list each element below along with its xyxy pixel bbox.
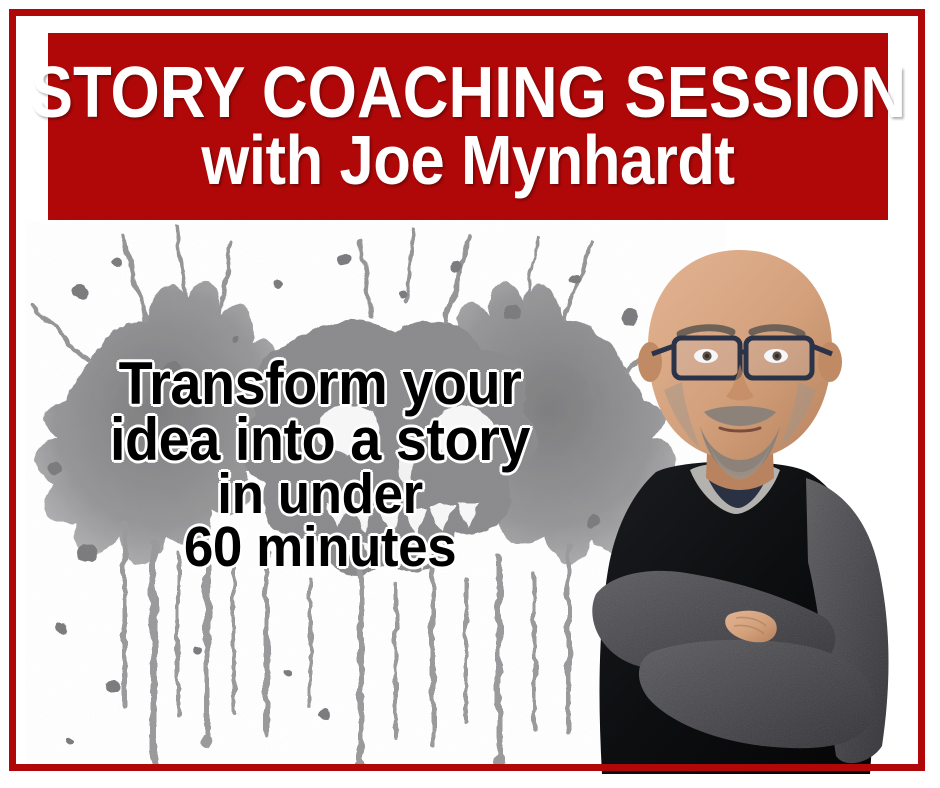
- headline-line-2: idea into a story: [78, 412, 562, 468]
- headline-line-1: Transform your: [78, 356, 562, 412]
- title-banner: STORY COACHING SESSION with Joe Mynhardt: [48, 33, 888, 220]
- banner-title-line-2: with Joe Mynhardt: [201, 128, 734, 192]
- left-ear: [638, 342, 662, 382]
- headline-line-4: 60 minutes: [78, 521, 562, 574]
- promotional-poster: STORY COACHING SESSION with Joe Mynhardt…: [0, 0, 940, 788]
- person-figure: [540, 222, 930, 774]
- banner-title-line-1: STORY COACHING SESSION: [30, 60, 905, 126]
- portrait-photo: [540, 222, 930, 774]
- headline-block: Transform your idea into a story in unde…: [60, 356, 580, 574]
- headline-line-3: in under: [78, 468, 562, 521]
